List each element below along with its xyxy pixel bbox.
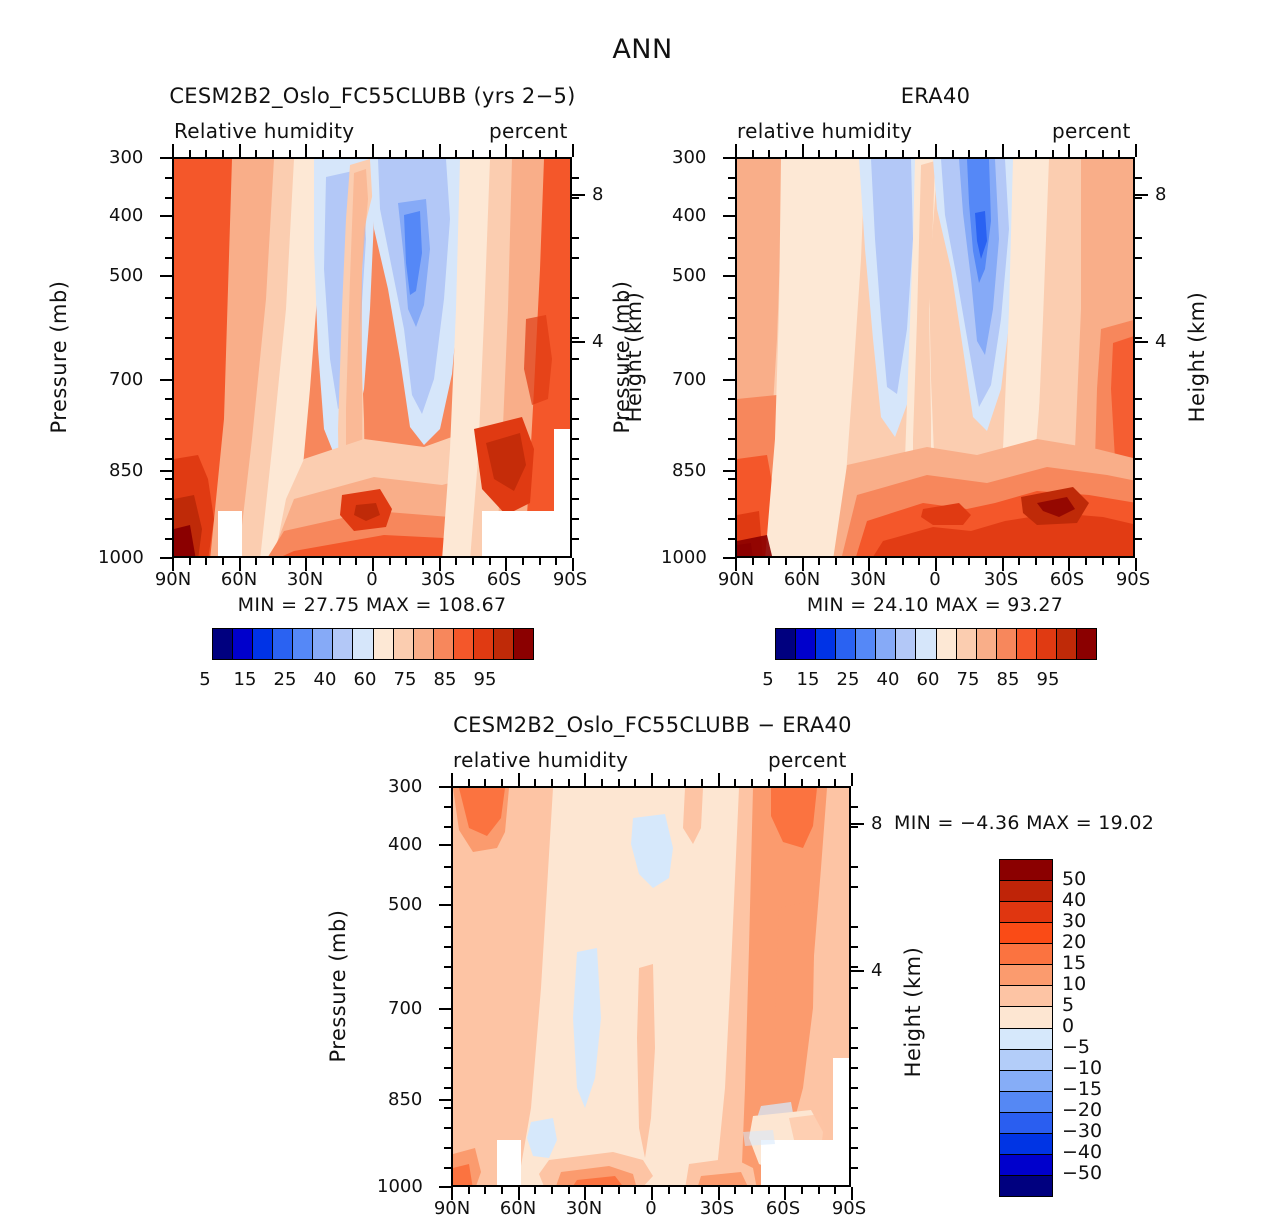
colorbar-difference-label: −5 <box>1062 1038 1090 1057</box>
colorbar-label: 15 <box>788 669 828 690</box>
xtick-major <box>239 558 241 571</box>
colorbar-cell <box>776 629 796 659</box>
ytick-minor <box>728 418 735 420</box>
xtick-minor <box>1118 558 1120 565</box>
colorbar-cell <box>1000 902 1052 923</box>
colorbar-cell <box>1000 944 1052 965</box>
xtick-label: 30N <box>285 569 325 590</box>
xtick-minor <box>918 558 920 565</box>
xtick-minor <box>902 558 904 565</box>
colorbar-cell <box>353 629 373 659</box>
ytick-minor <box>444 966 451 968</box>
xtick-major <box>1068 144 1070 157</box>
colorbar-label: 95 <box>465 669 505 690</box>
ytick-minor <box>851 1047 858 1049</box>
ytick-minor <box>572 498 579 500</box>
xtick-minor <box>985 558 987 565</box>
ytick-minor <box>728 197 735 199</box>
xtick-minor <box>818 779 820 786</box>
ytick-minor <box>572 237 579 239</box>
xtick-minor <box>322 150 324 157</box>
ytick-minor <box>572 418 579 420</box>
xtick-minor <box>634 779 636 786</box>
xtick-minor <box>484 1187 486 1194</box>
colorbar-difference-label: 0 <box>1062 1017 1074 1036</box>
xtick-minor <box>484 779 486 786</box>
ytick-major <box>439 1099 452 1101</box>
ytick-minor <box>1135 237 1142 239</box>
colorbar-difference[interactable] <box>999 859 1053 1197</box>
xtick-minor <box>1085 150 1087 157</box>
xtick-label: 90S <box>550 569 590 590</box>
xtick-minor <box>684 779 686 786</box>
colorbar-cell <box>494 629 514 659</box>
ytick-minor <box>728 177 735 179</box>
colorbar-cell <box>876 629 896 659</box>
xtick-minor <box>255 558 257 565</box>
xtick-minor <box>985 150 987 157</box>
colorbar-difference-label: 5 <box>1062 996 1074 1015</box>
colorbar-cell <box>816 629 836 659</box>
xtick-major <box>935 558 937 571</box>
ytick-right-label: 4 <box>871 960 882 981</box>
xtick-minor <box>768 1187 770 1194</box>
xtick-minor <box>1085 558 1087 565</box>
colorbar-absolute-obs[interactable] <box>775 628 1097 660</box>
xtick-label: 30N <box>848 569 888 590</box>
ytick-minor <box>165 498 172 500</box>
ytick-minor <box>1135 398 1142 400</box>
colorbar-cell <box>333 629 353 659</box>
xtick-minor <box>834 779 836 786</box>
colorbar-cell <box>896 629 916 659</box>
ytick-right-label: 8 <box>592 184 603 205</box>
ytick-minor <box>165 438 172 440</box>
ytick-major <box>439 844 452 846</box>
xtick-minor <box>734 1187 736 1194</box>
ytick-label: 850 <box>388 1089 422 1110</box>
xtick-minor <box>289 558 291 565</box>
colorbar-label: 95 <box>1028 669 1068 690</box>
ytick-minor <box>165 478 172 480</box>
xtick-major <box>505 558 507 571</box>
xtick-label: 0 <box>631 1198 671 1219</box>
xtick-major <box>868 558 870 571</box>
xtick-minor <box>684 1187 686 1194</box>
colorbar-label: 5 <box>748 669 788 690</box>
ytick-right <box>1135 341 1148 343</box>
colorbar-cell <box>997 629 1017 659</box>
xtick-major <box>651 773 653 786</box>
colorbar-label: 15 <box>225 669 265 690</box>
ytick-minor <box>1135 498 1142 500</box>
panel-varlabel-obs: relative humidity <box>737 119 912 143</box>
colorbar-cell <box>957 629 977 659</box>
ytick-minor <box>444 987 451 989</box>
xtick-major <box>868 144 870 157</box>
xtick-minor <box>355 558 357 565</box>
xtick-major <box>372 144 374 157</box>
colorbar-cell <box>1000 1007 1052 1028</box>
ytick-minor <box>851 1067 858 1069</box>
ytick-minor <box>851 1147 858 1149</box>
xtick-minor <box>489 558 491 565</box>
xtick-minor <box>189 558 191 565</box>
xtick-major <box>651 1187 653 1200</box>
colorbar-label: 75 <box>948 669 988 690</box>
colorbar-cell <box>1000 1050 1052 1071</box>
xtick-minor <box>339 150 341 157</box>
colorbar-difference-label: 10 <box>1062 975 1086 994</box>
ytick-minor <box>851 966 858 968</box>
xtick-minor <box>668 779 670 786</box>
xtick-minor <box>818 1187 820 1194</box>
xtick-minor <box>801 1187 803 1194</box>
ytick-minor <box>728 337 735 339</box>
xtick-major <box>505 144 507 157</box>
ytick-minor <box>444 806 451 808</box>
xtick-minor <box>618 1187 620 1194</box>
ytick-minor <box>444 1127 451 1129</box>
xtick-minor <box>834 1187 836 1194</box>
xtick-minor <box>751 779 753 786</box>
xtick-label: 30N <box>564 1198 604 1219</box>
ytick-major <box>160 379 173 381</box>
ytick-minor <box>444 1047 451 1049</box>
ytick-label: 400 <box>672 205 706 226</box>
xtick-minor <box>205 150 207 157</box>
minmax-difference: MIN = −4.36 MAX = 19.02 <box>894 812 1154 834</box>
colorbar-cell <box>1000 986 1052 1007</box>
ytick-minor <box>1135 518 1142 520</box>
xtick-major <box>718 773 720 786</box>
xtick-major <box>439 144 441 157</box>
xtick-minor <box>1052 558 1054 565</box>
xtick-minor <box>468 779 470 786</box>
panel-varlabel-model: Relative humidity <box>174 119 354 143</box>
ytick-minor <box>1135 438 1142 440</box>
colorbar-cell <box>1017 629 1037 659</box>
ytick-major <box>439 1008 452 1010</box>
colorbar-difference-label: 50 <box>1062 870 1086 889</box>
colorbar-cell <box>1000 1155 1052 1176</box>
xtick-minor <box>601 779 603 786</box>
ytick-minor <box>572 358 579 360</box>
xtick-minor <box>551 779 553 786</box>
xtick-major <box>239 144 241 157</box>
xtick-label: 60S <box>1047 569 1087 590</box>
xtick-major <box>851 773 853 786</box>
xtick-minor <box>902 150 904 157</box>
xtick-label: 90N <box>432 1198 472 1219</box>
xtick-major <box>305 558 307 571</box>
xtick-minor <box>885 558 887 565</box>
ytick-minor <box>851 866 858 868</box>
xtick-minor <box>768 150 770 157</box>
xtick-minor <box>801 779 803 786</box>
colorbar-cell <box>1000 965 1052 986</box>
xtick-minor <box>539 558 541 565</box>
xtick-major <box>784 1187 786 1200</box>
yaxis-title-left-model: Pressure (mb) <box>47 272 71 442</box>
colorbar-cell <box>1000 1092 1052 1113</box>
colorbar-label: 25 <box>265 669 305 690</box>
ytick-minor <box>165 237 172 239</box>
xtick-major <box>802 144 804 157</box>
ytick-minor <box>1135 257 1142 259</box>
ytick-minor <box>1135 458 1142 460</box>
ytick-minor <box>572 177 579 179</box>
ytick-label: 700 <box>388 998 422 1019</box>
xtick-minor <box>405 558 407 565</box>
ytick-minor <box>572 538 579 540</box>
colorbar-difference-label: 40 <box>1062 891 1086 910</box>
xtick-major <box>735 144 737 157</box>
ytick-minor <box>728 297 735 299</box>
xtick-minor <box>205 558 207 565</box>
panel-unitlabel-obs: percent <box>1052 119 1131 143</box>
ytick-major <box>723 275 736 277</box>
colorbar-cell <box>1000 923 1052 944</box>
ytick-label: 500 <box>109 265 143 286</box>
contour-field-difference <box>453 788 851 1187</box>
xtick-major <box>305 144 307 157</box>
xtick-minor <box>1035 150 1037 157</box>
ytick-right <box>572 341 585 343</box>
plot-area-difference[interactable] <box>451 786 851 1187</box>
xtick-minor <box>472 150 474 157</box>
xtick-minor <box>455 558 457 565</box>
xtick-minor <box>752 558 754 565</box>
colorbar-absolute-model[interactable] <box>212 628 534 660</box>
ytick-minor <box>572 398 579 400</box>
xtick-major <box>718 1187 720 1200</box>
ytick-label: 300 <box>109 147 143 168</box>
xtick-major <box>372 558 374 571</box>
colorbar-cell <box>1000 1029 1052 1050</box>
ytick-right-label: 4 <box>592 331 603 352</box>
colorbar-difference-label: 15 <box>1062 954 1086 973</box>
xtick-major <box>518 1187 520 1200</box>
xtick-minor <box>522 150 524 157</box>
ytick-minor <box>572 518 579 520</box>
xtick-minor <box>222 558 224 565</box>
xtick-minor <box>534 779 536 786</box>
yaxis-title-right-obs: Height (km) <box>1185 272 1209 442</box>
colorbar-cell <box>916 629 936 659</box>
xtick-minor <box>701 1187 703 1194</box>
colorbar-cell <box>454 629 474 659</box>
ytick-minor <box>444 826 451 828</box>
ytick-label: 850 <box>672 460 706 481</box>
xtick-label: 30S <box>697 1198 737 1219</box>
yaxis-title-left-difference: Pressure (mb) <box>326 901 350 1071</box>
ytick-minor <box>728 358 735 360</box>
ytick-minor <box>851 1127 858 1129</box>
xtick-minor <box>501 779 503 786</box>
colorbar-difference-label: −10 <box>1062 1059 1102 1078</box>
ytick-minor <box>851 946 858 948</box>
xtick-minor <box>568 1187 570 1194</box>
xtick-minor <box>455 150 457 157</box>
plot-area-model[interactable] <box>172 157 572 558</box>
xtick-minor <box>852 150 854 157</box>
colorbar-cell <box>474 629 494 659</box>
ytick-minor <box>851 1087 858 1089</box>
xtick-minor <box>539 150 541 157</box>
colorbar-label: 60 <box>345 669 385 690</box>
ytick-minor <box>1135 418 1142 420</box>
ytick-minor <box>444 1167 451 1169</box>
ytick-right-label: 8 <box>1155 184 1166 205</box>
ytick-minor <box>728 398 735 400</box>
xtick-label: 30S <box>418 569 458 590</box>
ytick-minor <box>1135 358 1142 360</box>
xtick-minor <box>389 150 391 157</box>
panel-varlabel-difference: relative humidity <box>453 748 628 772</box>
xtick-minor <box>885 150 887 157</box>
ytick-major <box>723 215 736 217</box>
xtick-minor <box>255 150 257 157</box>
figure-suptitle: ANN <box>0 34 1285 65</box>
ytick-minor <box>572 297 579 299</box>
colorbar-cell <box>1000 1176 1052 1196</box>
colorbar-label: 75 <box>385 669 425 690</box>
xtick-minor <box>551 1187 553 1194</box>
xtick-label: 60S <box>763 1198 803 1219</box>
ytick-minor <box>728 518 735 520</box>
panel-title-difference: CESM2B2_Oslo_FC55CLUBB − ERA40 <box>310 713 995 737</box>
ytick-right-label: 4 <box>1155 331 1166 352</box>
xtick-minor <box>289 150 291 157</box>
xtick-minor <box>1035 558 1037 565</box>
colorbar-difference-label: −15 <box>1062 1080 1102 1099</box>
ytick-minor <box>444 1067 451 1069</box>
ytick-minor <box>1135 538 1142 540</box>
plot-area-obs[interactable] <box>735 157 1135 558</box>
colorbar-label: 85 <box>988 669 1028 690</box>
xtick-major <box>572 558 574 571</box>
colorbar-cell <box>273 629 293 659</box>
xtick-minor <box>555 558 557 565</box>
ytick-minor <box>572 458 579 460</box>
ytick-label: 1000 <box>661 547 707 568</box>
ytick-minor <box>165 297 172 299</box>
ytick-right <box>1135 194 1148 196</box>
colorbar-cell <box>1077 629 1096 659</box>
xtick-minor <box>785 150 787 157</box>
panel-unitlabel-difference: percent <box>768 748 847 772</box>
xtick-minor <box>468 1187 470 1194</box>
ytick-major <box>723 379 736 381</box>
ytick-minor <box>444 946 451 948</box>
ytick-minor <box>1135 478 1142 480</box>
colorbar-cell <box>394 629 414 659</box>
xtick-minor <box>189 150 191 157</box>
xtick-minor <box>701 779 703 786</box>
colorbar-label: 5 <box>185 669 225 690</box>
ytick-minor <box>572 438 579 440</box>
xtick-major <box>172 144 174 157</box>
ytick-minor <box>444 1027 451 1029</box>
xtick-minor <box>968 150 970 157</box>
colorbar-cell <box>313 629 333 659</box>
xtick-minor <box>422 150 424 157</box>
ytick-label: 1000 <box>98 547 144 568</box>
colorbar-cell <box>213 629 233 659</box>
contour-field-model <box>174 159 572 558</box>
xtick-major <box>1135 144 1137 157</box>
colorbar-label: 25 <box>828 669 868 690</box>
ytick-major <box>160 470 173 472</box>
minmax-model: MIN = 27.75 MAX = 108.67 <box>172 594 572 616</box>
xtick-minor <box>422 558 424 565</box>
ytick-minor <box>444 886 451 888</box>
ytick-minor <box>165 177 172 179</box>
ytick-minor <box>165 317 172 319</box>
xtick-label: 90N <box>716 569 756 590</box>
colorbar-cell <box>856 629 876 659</box>
contour-field-obs <box>737 159 1135 558</box>
ytick-minor <box>572 337 579 339</box>
colorbar-cell <box>1000 881 1052 902</box>
ytick-right <box>572 194 585 196</box>
ytick-minor <box>1135 337 1142 339</box>
ytick-major <box>160 275 173 277</box>
ytick-minor <box>165 538 172 540</box>
ytick-major <box>160 215 173 217</box>
xtick-minor <box>472 558 474 565</box>
ytick-minor <box>444 1087 451 1089</box>
ytick-minor <box>851 1027 858 1029</box>
ytick-minor <box>165 197 172 199</box>
ytick-minor <box>572 257 579 259</box>
xtick-label: 90S <box>1113 569 1153 590</box>
ytick-major <box>723 157 736 159</box>
xtick-minor <box>1118 150 1120 157</box>
ytick-label: 400 <box>388 834 422 855</box>
ytick-right <box>851 970 864 972</box>
colorbar-cell <box>374 629 394 659</box>
xtick-major <box>451 773 453 786</box>
colorbar-cell <box>233 629 253 659</box>
ytick-minor <box>1135 177 1142 179</box>
colorbar-cell <box>1057 629 1077 659</box>
colorbar-cell <box>937 629 957 659</box>
xtick-minor <box>852 558 854 565</box>
ytick-minor <box>1135 317 1142 319</box>
ytick-minor <box>444 866 451 868</box>
colorbar-cell <box>1037 629 1057 659</box>
xtick-minor <box>1052 150 1054 157</box>
xtick-minor <box>751 1187 753 1194</box>
ytick-label: 700 <box>109 369 143 390</box>
xtick-minor <box>322 558 324 565</box>
xtick-major <box>935 144 937 157</box>
xtick-major <box>784 773 786 786</box>
xtick-major <box>584 773 586 786</box>
ytick-minor <box>728 478 735 480</box>
ytick-minor <box>851 886 858 888</box>
colorbar-label: 40 <box>305 669 345 690</box>
xtick-label: 60N <box>782 569 822 590</box>
colorbar-difference-label: −30 <box>1062 1122 1102 1141</box>
ytick-minor <box>165 458 172 460</box>
xtick-minor <box>555 150 557 157</box>
xtick-minor <box>952 558 954 565</box>
xtick-minor <box>568 779 570 786</box>
ytick-minor <box>165 418 172 420</box>
